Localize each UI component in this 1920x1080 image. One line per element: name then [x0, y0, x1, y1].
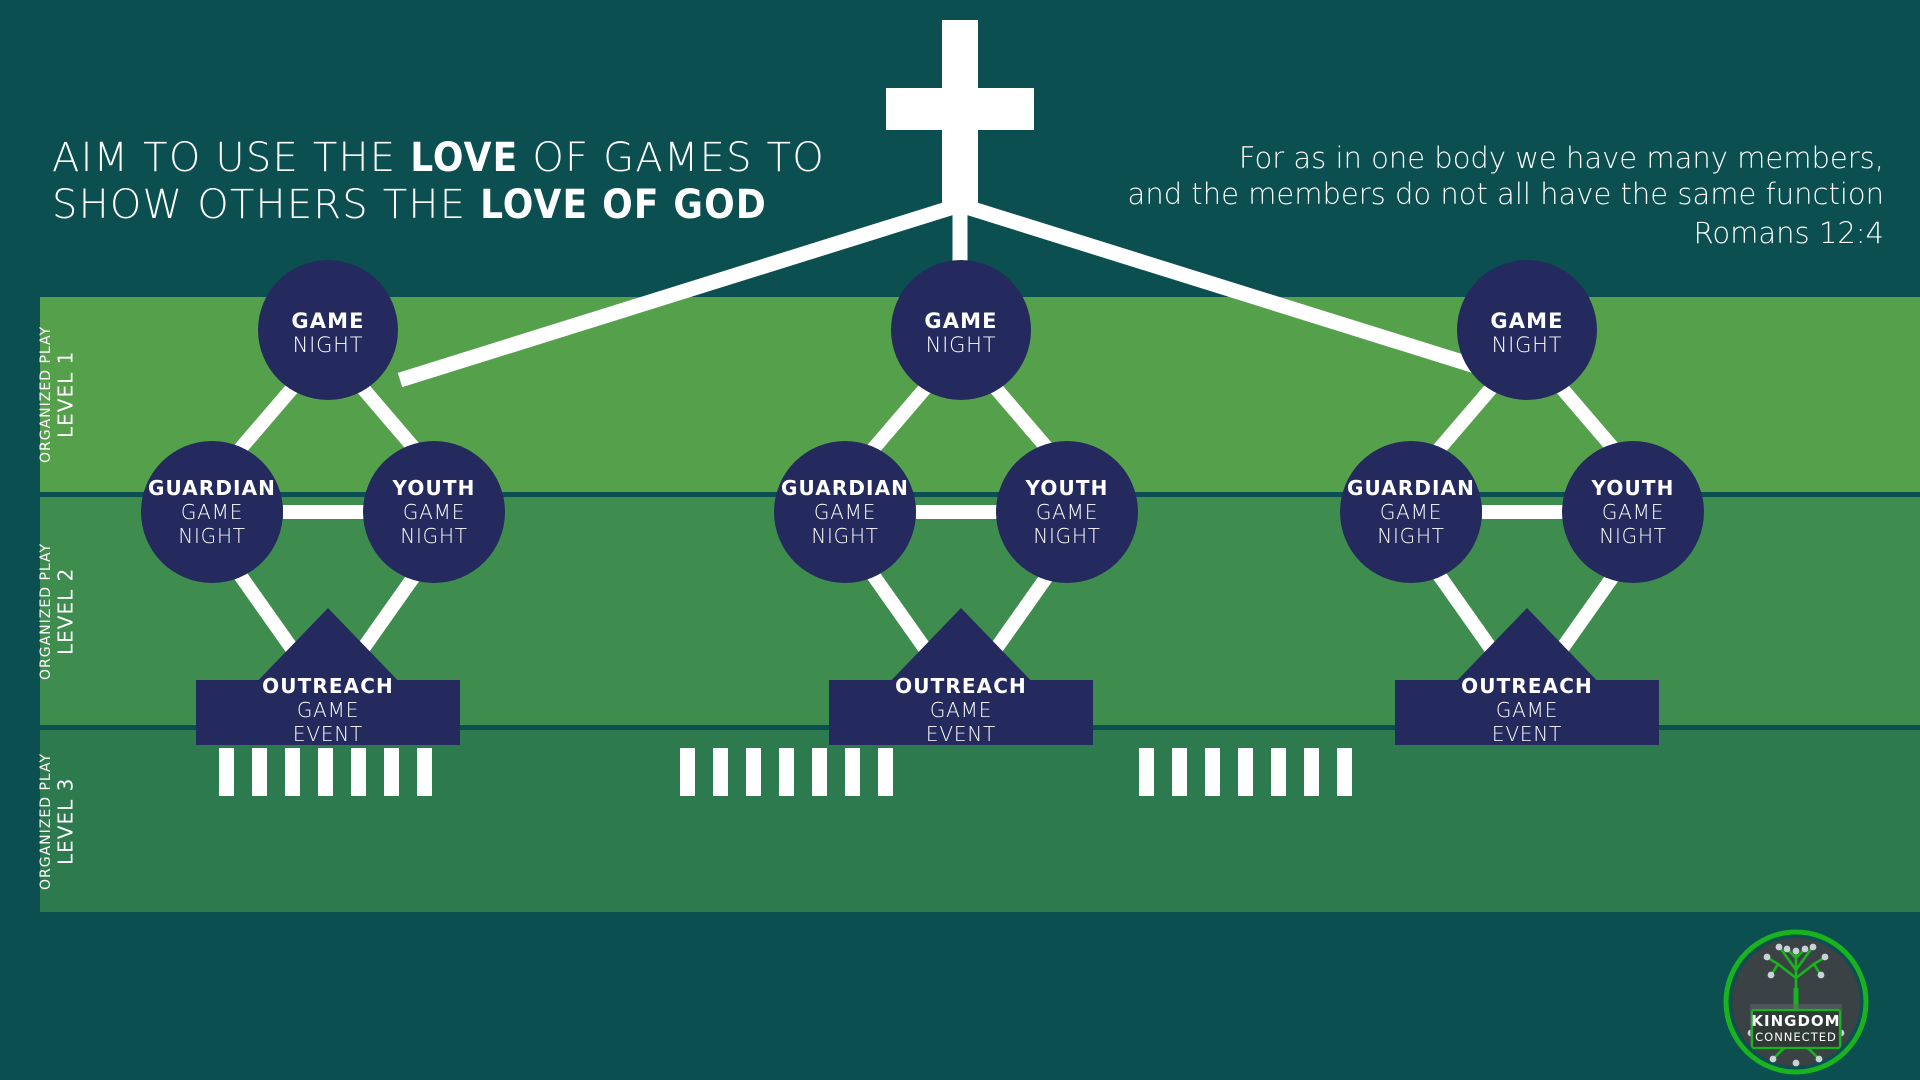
cluster-2-game-night-node[interactable] — [891, 260, 1031, 400]
cluster-1-game-night-node[interactable] — [258, 260, 398, 400]
cluster-3-guardian-node[interactable] — [1340, 441, 1482, 583]
logo-name-line-2: CONNECTED — [1755, 1030, 1837, 1044]
headline-line-2: SHOW OTHERS THE LOVE OF GOD — [52, 182, 882, 229]
logo-name-line-1: KINGDOM — [1751, 1012, 1840, 1030]
headline-l2-love-of-god: LOVE OF GOD — [480, 182, 767, 228]
cluster-1-outreach-base — [196, 680, 460, 745]
cluster-2-youth-node[interactable] — [996, 441, 1138, 583]
infographic-canvas: GAME NIGHT GUARDIAN GAME NIGHT YOUTH GAM… — [0, 0, 1920, 1080]
cross-icon — [886, 20, 1034, 208]
kingdom-connected-logo[interactable]: KINGDOM CONNECTED — [1722, 928, 1870, 1076]
scripture-quote: For as in one body we have many members,… — [1128, 140, 1884, 251]
cluster-1-youth-node[interactable] — [363, 441, 505, 583]
headline-l1-c: OF GAMES TO — [518, 135, 825, 181]
headline-l2-a: SHOW OTHERS THE — [52, 182, 480, 228]
headline-l1-a: AIM TO USE THE — [52, 135, 410, 181]
cluster-3-outreach-base — [1395, 680, 1659, 745]
verse-line-1: For as in one body we have many members, — [1128, 140, 1884, 176]
cluster-2-outreach-base — [829, 680, 1093, 745]
headline-l1-love: LOVE — [410, 135, 518, 181]
cluster-1-guardian-node[interactable] — [141, 441, 283, 583]
headline: AIM TO USE THE LOVE OF GAMES TO SHOW OTH… — [52, 135, 882, 229]
cluster-3-youth-node[interactable] — [1562, 441, 1704, 583]
verse-reference: Romans 12:4 — [1128, 215, 1884, 251]
cluster-3-game-night-node[interactable] — [1457, 260, 1597, 400]
verse-line-2: and the members do not all have the same… — [1128, 176, 1884, 212]
headline-line-1: AIM TO USE THE LOVE OF GAMES TO — [52, 135, 882, 182]
cluster-2-guardian-node[interactable] — [774, 441, 916, 583]
